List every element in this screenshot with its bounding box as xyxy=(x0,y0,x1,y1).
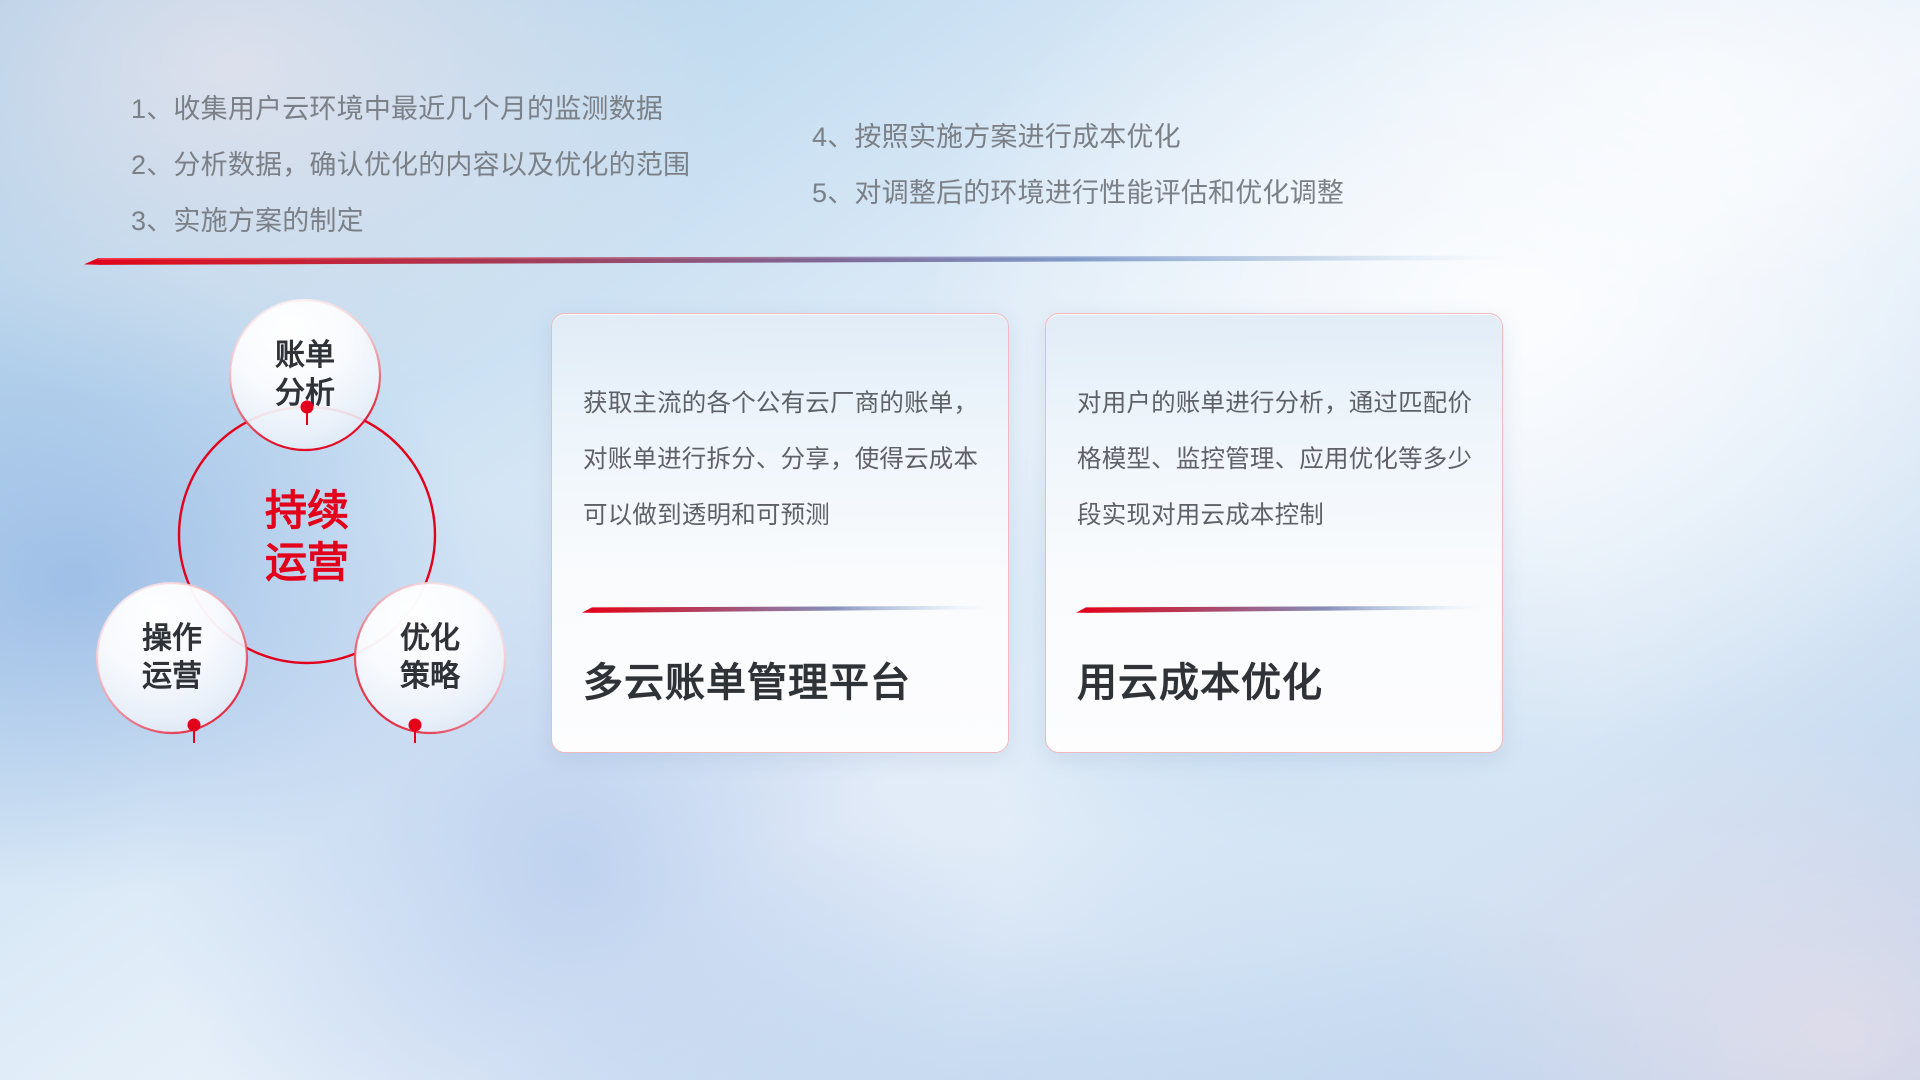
venn-lobe-billing-analysis[interactable]: 账单 分析 xyxy=(230,300,380,450)
header-divider-rule xyxy=(84,255,1504,265)
steps-right-column: 4、按照实施方案进行成本优化 5、对调整后的环境进行性能评估和优化调整 xyxy=(812,124,1344,207)
steps-left-column: 1、收集用户云环境中最近几个月的监测数据 2、分析数据，确认优化的内容以及优化的… xyxy=(131,96,690,235)
card-body-text: 获取主流的各个公有云厂商的账单，对账单进行拆分、分享，使得云成本可以做到透明和可… xyxy=(583,376,981,544)
venn-lobe-operations[interactable]: 操作 运营 xyxy=(97,583,247,733)
card-divider-rule xyxy=(582,605,986,613)
card-body-text: 对用户的账单进行分析，通过匹配价格模型、监控管理、应用优化等多少段实现对用云成本… xyxy=(1077,376,1475,544)
step-item: 4、按照实施方案进行成本优化 xyxy=(812,124,1344,151)
venn-center-label-line1: 持续 xyxy=(265,487,349,534)
venn-lobe-label-line2: 运营 xyxy=(142,660,202,693)
step-item: 1、收集用户云环境中最近几个月的监测数据 xyxy=(131,96,690,123)
card-multi-cloud-billing-platform[interactable]: 获取主流的各个公有云厂商的账单，对账单进行拆分、分享，使得云成本可以做到透明和可… xyxy=(551,313,1009,753)
card-cloud-cost-optimization[interactable]: 对用户的账单进行分析，通过匹配价格模型、监控管理、应用优化等多少段实现对用云成本… xyxy=(1045,313,1503,753)
venn-center-label-line2: 运营 xyxy=(265,539,349,586)
card-divider-rule xyxy=(1076,605,1480,613)
venn-node-dot-right xyxy=(409,719,422,732)
venn-center-label: 持续 运营 xyxy=(265,487,349,586)
step-item: 3、实施方案的制定 xyxy=(131,208,690,235)
venn-lobe-label-line1: 账单 xyxy=(275,339,335,372)
step-item: 5、对调整后的环境进行性能评估和优化调整 xyxy=(812,180,1344,207)
venn-lobe-label-line2: 策略 xyxy=(400,659,461,693)
venn-node-dot-top xyxy=(301,401,314,414)
card-title: 用云成本优化 xyxy=(1077,650,1482,708)
venn-node-dot-left xyxy=(188,719,201,732)
step-item: 2、分析数据，确认优化的内容以及优化的范围 xyxy=(131,152,690,179)
venn-lobe-optimization[interactable]: 优化 策略 xyxy=(355,583,505,733)
venn-diagram: 账单 分析 操作 运营 优化 策略 持续 运营 xyxy=(72,285,542,765)
venn-lobe-label-line1: 操作 xyxy=(142,622,202,655)
venn-lobe-label-line1: 优化 xyxy=(400,622,460,655)
slide-canvas: 1、收集用户云环境中最近几个月的监测数据 2、分析数据，确认优化的内容以及优化的… xyxy=(0,0,1920,1080)
card-title: 多云账单管理平台 xyxy=(583,650,988,708)
